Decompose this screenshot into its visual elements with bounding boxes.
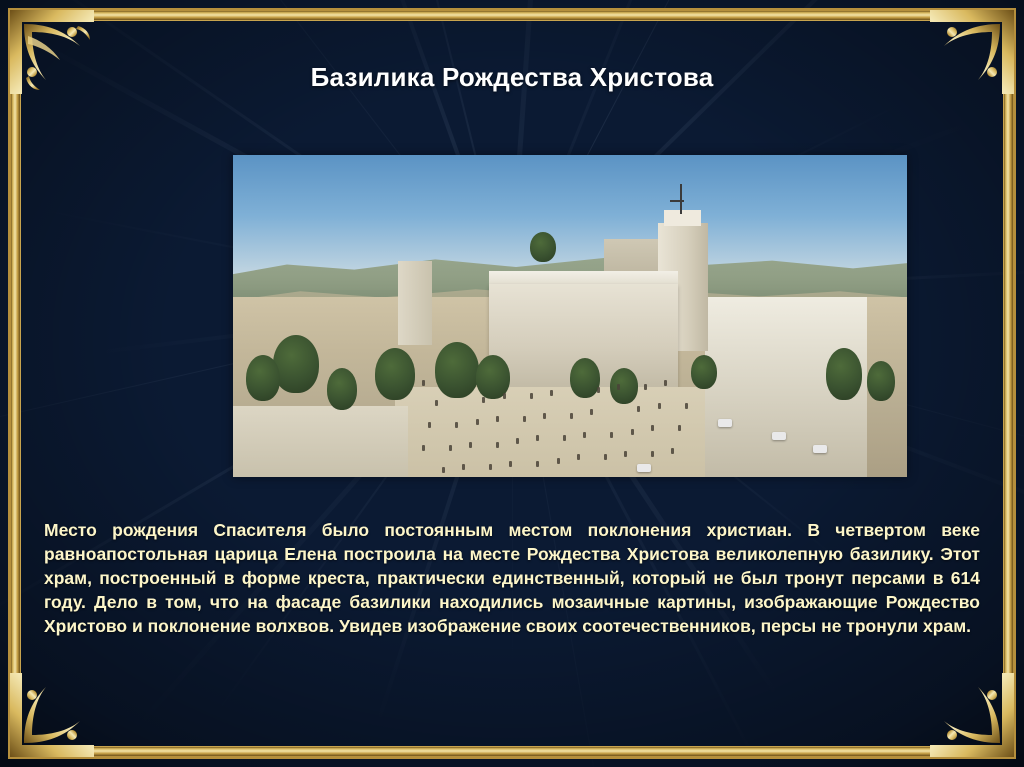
photo-person [570, 413, 573, 419]
photo-person [462, 464, 465, 470]
photo-person [651, 451, 654, 457]
photo-person [671, 448, 674, 454]
frame-bar-top [11, 11, 1013, 20]
photo-person [489, 464, 492, 470]
slide-title: Базилика Рождества Христова [0, 62, 1024, 93]
photo-person [509, 461, 512, 467]
frame-bar-left [11, 11, 20, 756]
frame-corner-bottom-right [926, 669, 1018, 761]
photo-person [482, 397, 485, 403]
photo-tree [826, 348, 862, 400]
photo-person [550, 390, 553, 396]
photo-cross-horizontal [670, 200, 684, 202]
photo-person [422, 445, 425, 451]
photo-person [543, 413, 546, 419]
photo-car [813, 445, 827, 453]
photo-person [644, 384, 647, 390]
photo-tree [476, 355, 510, 399]
photo-tree [530, 232, 556, 262]
presentation-slide: Базилика Рождества Христова Место рожден… [0, 0, 1024, 767]
photo-plaza [395, 387, 705, 477]
photo-person [577, 454, 580, 460]
photo-person [610, 432, 613, 438]
photo-person [563, 435, 566, 441]
photo-person [516, 438, 519, 444]
photo-person [617, 384, 620, 390]
photo-person [658, 403, 661, 409]
photo-car [637, 464, 651, 472]
photo-tree [273, 335, 319, 393]
photo-person [557, 458, 560, 464]
photo-person [530, 393, 533, 399]
bethlehem-basilica-photo [233, 155, 907, 477]
photo-car [718, 419, 732, 427]
photo-person [536, 461, 539, 467]
photo-person [469, 442, 472, 448]
photo-tree [570, 358, 600, 398]
photo-person [590, 409, 593, 415]
photo-person [435, 400, 438, 406]
photo-tree [435, 342, 479, 398]
photo-person [496, 416, 499, 422]
photo-person [496, 442, 499, 448]
photo-person [637, 406, 640, 412]
photo-person [442, 467, 445, 473]
photo-person [678, 425, 681, 431]
slide-body-text: Место рождения Спасителя было постоянным… [44, 518, 980, 638]
photo-person [536, 435, 539, 441]
photo-tree [246, 355, 280, 401]
photo-left-tower [398, 261, 432, 345]
corner-ornament-icon [926, 669, 1018, 761]
photo-person [523, 416, 526, 422]
photo-person [476, 419, 479, 425]
photo-person [422, 380, 425, 386]
photo-tree [327, 368, 357, 410]
photo-car [772, 432, 786, 440]
photo-person [503, 393, 506, 399]
frame-corner-bottom-left [6, 669, 98, 761]
photo-person [685, 403, 688, 409]
photo-foreground-wall [233, 406, 408, 477]
photo-person [651, 425, 654, 431]
photo-tree [610, 368, 638, 404]
photo-person [604, 454, 607, 460]
slide-image [233, 155, 907, 477]
photo-person [597, 387, 600, 393]
frame-bar-right [1004, 11, 1013, 756]
photo-bell-tower-top [664, 210, 701, 226]
photo-person [631, 429, 634, 435]
photo-tree [691, 355, 717, 389]
frame-bar-bottom [11, 747, 1013, 756]
photo-cross-vertical [680, 184, 682, 214]
photo-tree [375, 348, 415, 400]
photo-tree [867, 361, 895, 401]
photo-person [449, 445, 452, 451]
corner-ornament-icon [6, 669, 98, 761]
photo-person [624, 451, 627, 457]
slide-body-paragraph: Место рождения Спасителя было постоянным… [44, 518, 980, 638]
